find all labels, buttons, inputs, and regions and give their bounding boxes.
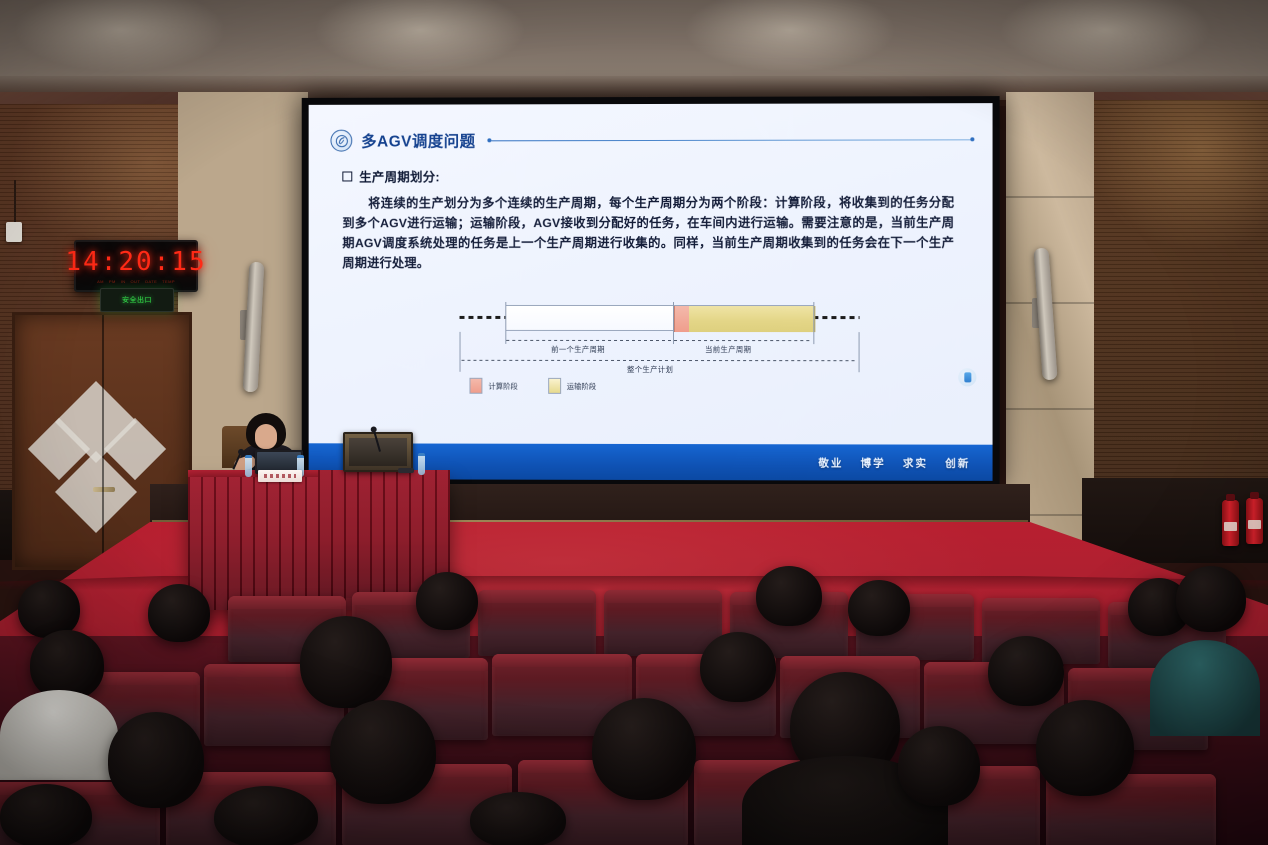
audience-head <box>416 572 478 630</box>
door-handle[interactable] <box>93 487 115 492</box>
diagram-legend: 计算阶段 运输阶段 <box>469 378 596 394</box>
presenter-face <box>255 424 277 449</box>
arrow-current-cycle <box>674 340 812 341</box>
square-bullet-icon <box>342 171 352 181</box>
audience-head <box>470 792 566 845</box>
seat-row3[interactable] <box>478 590 596 656</box>
audience-head <box>0 784 92 845</box>
footer-motto: 博学 <box>861 455 886 470</box>
footer-motto: 求实 <box>903 455 928 470</box>
legend-label-calculation: 计算阶段 <box>488 380 517 391</box>
projection-screen-frame: 多AGV调度问题 生产周期划分: 将连续的生产划分为多个连续的生产周期，每个生产… <box>302 96 1000 488</box>
timeline-tick <box>460 332 461 372</box>
light-switch[interactable] <box>6 222 22 242</box>
clock-time: 14:20:15 <box>65 249 206 275</box>
audience-head <box>148 584 210 642</box>
presentation-slide: 多AGV调度问题 生产周期划分: 将连续的生产划分为多个连续的生产周期，每个生产… <box>309 103 993 481</box>
audience-head <box>898 726 980 806</box>
label-whole-plan: 整个生产计划 <box>627 364 673 375</box>
phone-on-table <box>398 468 414 473</box>
audience-shoulders <box>0 690 118 780</box>
legend-item-transport: 运输阶段 <box>548 378 596 394</box>
emergency-exit-sign: 安全出口 <box>100 288 174 312</box>
clock-marker: PM <box>109 279 116 284</box>
footer-motto: 敬业 <box>818 455 843 470</box>
legend-item-calculation: 计算阶段 <box>469 378 517 394</box>
exit-sign-label: 安全出口 <box>122 295 152 305</box>
slide-title-row: 多AGV调度问题 <box>330 125 974 154</box>
clock-sub-markers: AM PM IN OUT DATE TEMP <box>97 279 175 284</box>
clock-marker: DATE <box>145 279 157 284</box>
audience-head <box>330 700 436 804</box>
footer-motto: 创新 <box>945 455 970 470</box>
laptop-secondary[interactable] <box>343 432 413 472</box>
clock-marker: AM <box>97 279 104 284</box>
legend-swatch-transport <box>548 378 561 394</box>
clock-marker: IN <box>121 279 126 284</box>
water-bottle <box>245 455 252 477</box>
label-current-cycle: 当前生产周期 <box>705 344 751 355</box>
clock-marker: OUT <box>131 279 141 284</box>
name-plate-card <box>258 470 302 482</box>
audience-head <box>988 636 1064 706</box>
arrow-whole-plan <box>462 360 858 361</box>
bullet-heading-label: 生产周期划分: <box>359 166 440 185</box>
audience-shoulders <box>1150 640 1260 736</box>
audience-head <box>300 616 392 708</box>
water-bottle <box>418 453 425 475</box>
audience-head <box>700 632 776 702</box>
segment-transport-phase <box>689 306 815 332</box>
timeline-tick <box>505 302 506 344</box>
timeline-tick <box>673 302 674 344</box>
slide-watermark-icon <box>958 368 976 386</box>
arrow-previous-cycle <box>506 340 672 341</box>
audience-head <box>1176 566 1246 632</box>
title-underline-rule <box>491 139 974 141</box>
audience-head <box>848 580 910 636</box>
wall-cable <box>14 180 16 225</box>
clock-marker: TEMP <box>162 279 175 284</box>
legend-swatch-calculation <box>469 378 482 394</box>
timeline-tick <box>859 332 860 372</box>
slide-title: 多AGV调度问题 <box>361 129 475 151</box>
label-previous-cycle: 前一个生产周期 <box>551 344 605 355</box>
timeline-bar <box>505 305 813 331</box>
audience-head <box>756 566 822 626</box>
projection-screen: 多AGV调度问题 生产周期划分: 将连续的生产划分为多个连续的生产周期，每个生产… <box>309 103 993 481</box>
audience-head <box>1036 700 1134 796</box>
production-cycle-timeline-diagram: 前一个生产周期 当前生产周期 整个生产计划 计算阶段 运输阶段 <box>460 302 860 394</box>
fire-extinguisher <box>1222 500 1239 546</box>
led-wall-clock: 14:20:15 AM PM IN OUT DATE TEMP <box>74 240 198 292</box>
timeline-tick <box>813 302 814 344</box>
fire-extinguisher <box>1246 498 1263 544</box>
lecture-hall-photo: 14:20:15 AM PM IN OUT DATE TEMP 安全出口 <box>0 0 1268 845</box>
legend-label-transport: 运输阶段 <box>567 380 597 391</box>
audience-head <box>214 786 318 845</box>
slide-paragraph: 将连续的生产划分为多个连续的生产周期，每个生产周期分为两个阶段：计算阶段，将收集… <box>342 194 954 274</box>
timeline-dashes-right <box>813 316 859 319</box>
audience-head <box>108 712 204 808</box>
timeline-dashes-left <box>460 316 506 319</box>
audience-head <box>592 698 696 800</box>
seat-row3[interactable] <box>604 590 722 656</box>
slide-bullet-heading: 生产周期划分: <box>342 166 440 185</box>
university-emblem-icon <box>330 130 352 152</box>
